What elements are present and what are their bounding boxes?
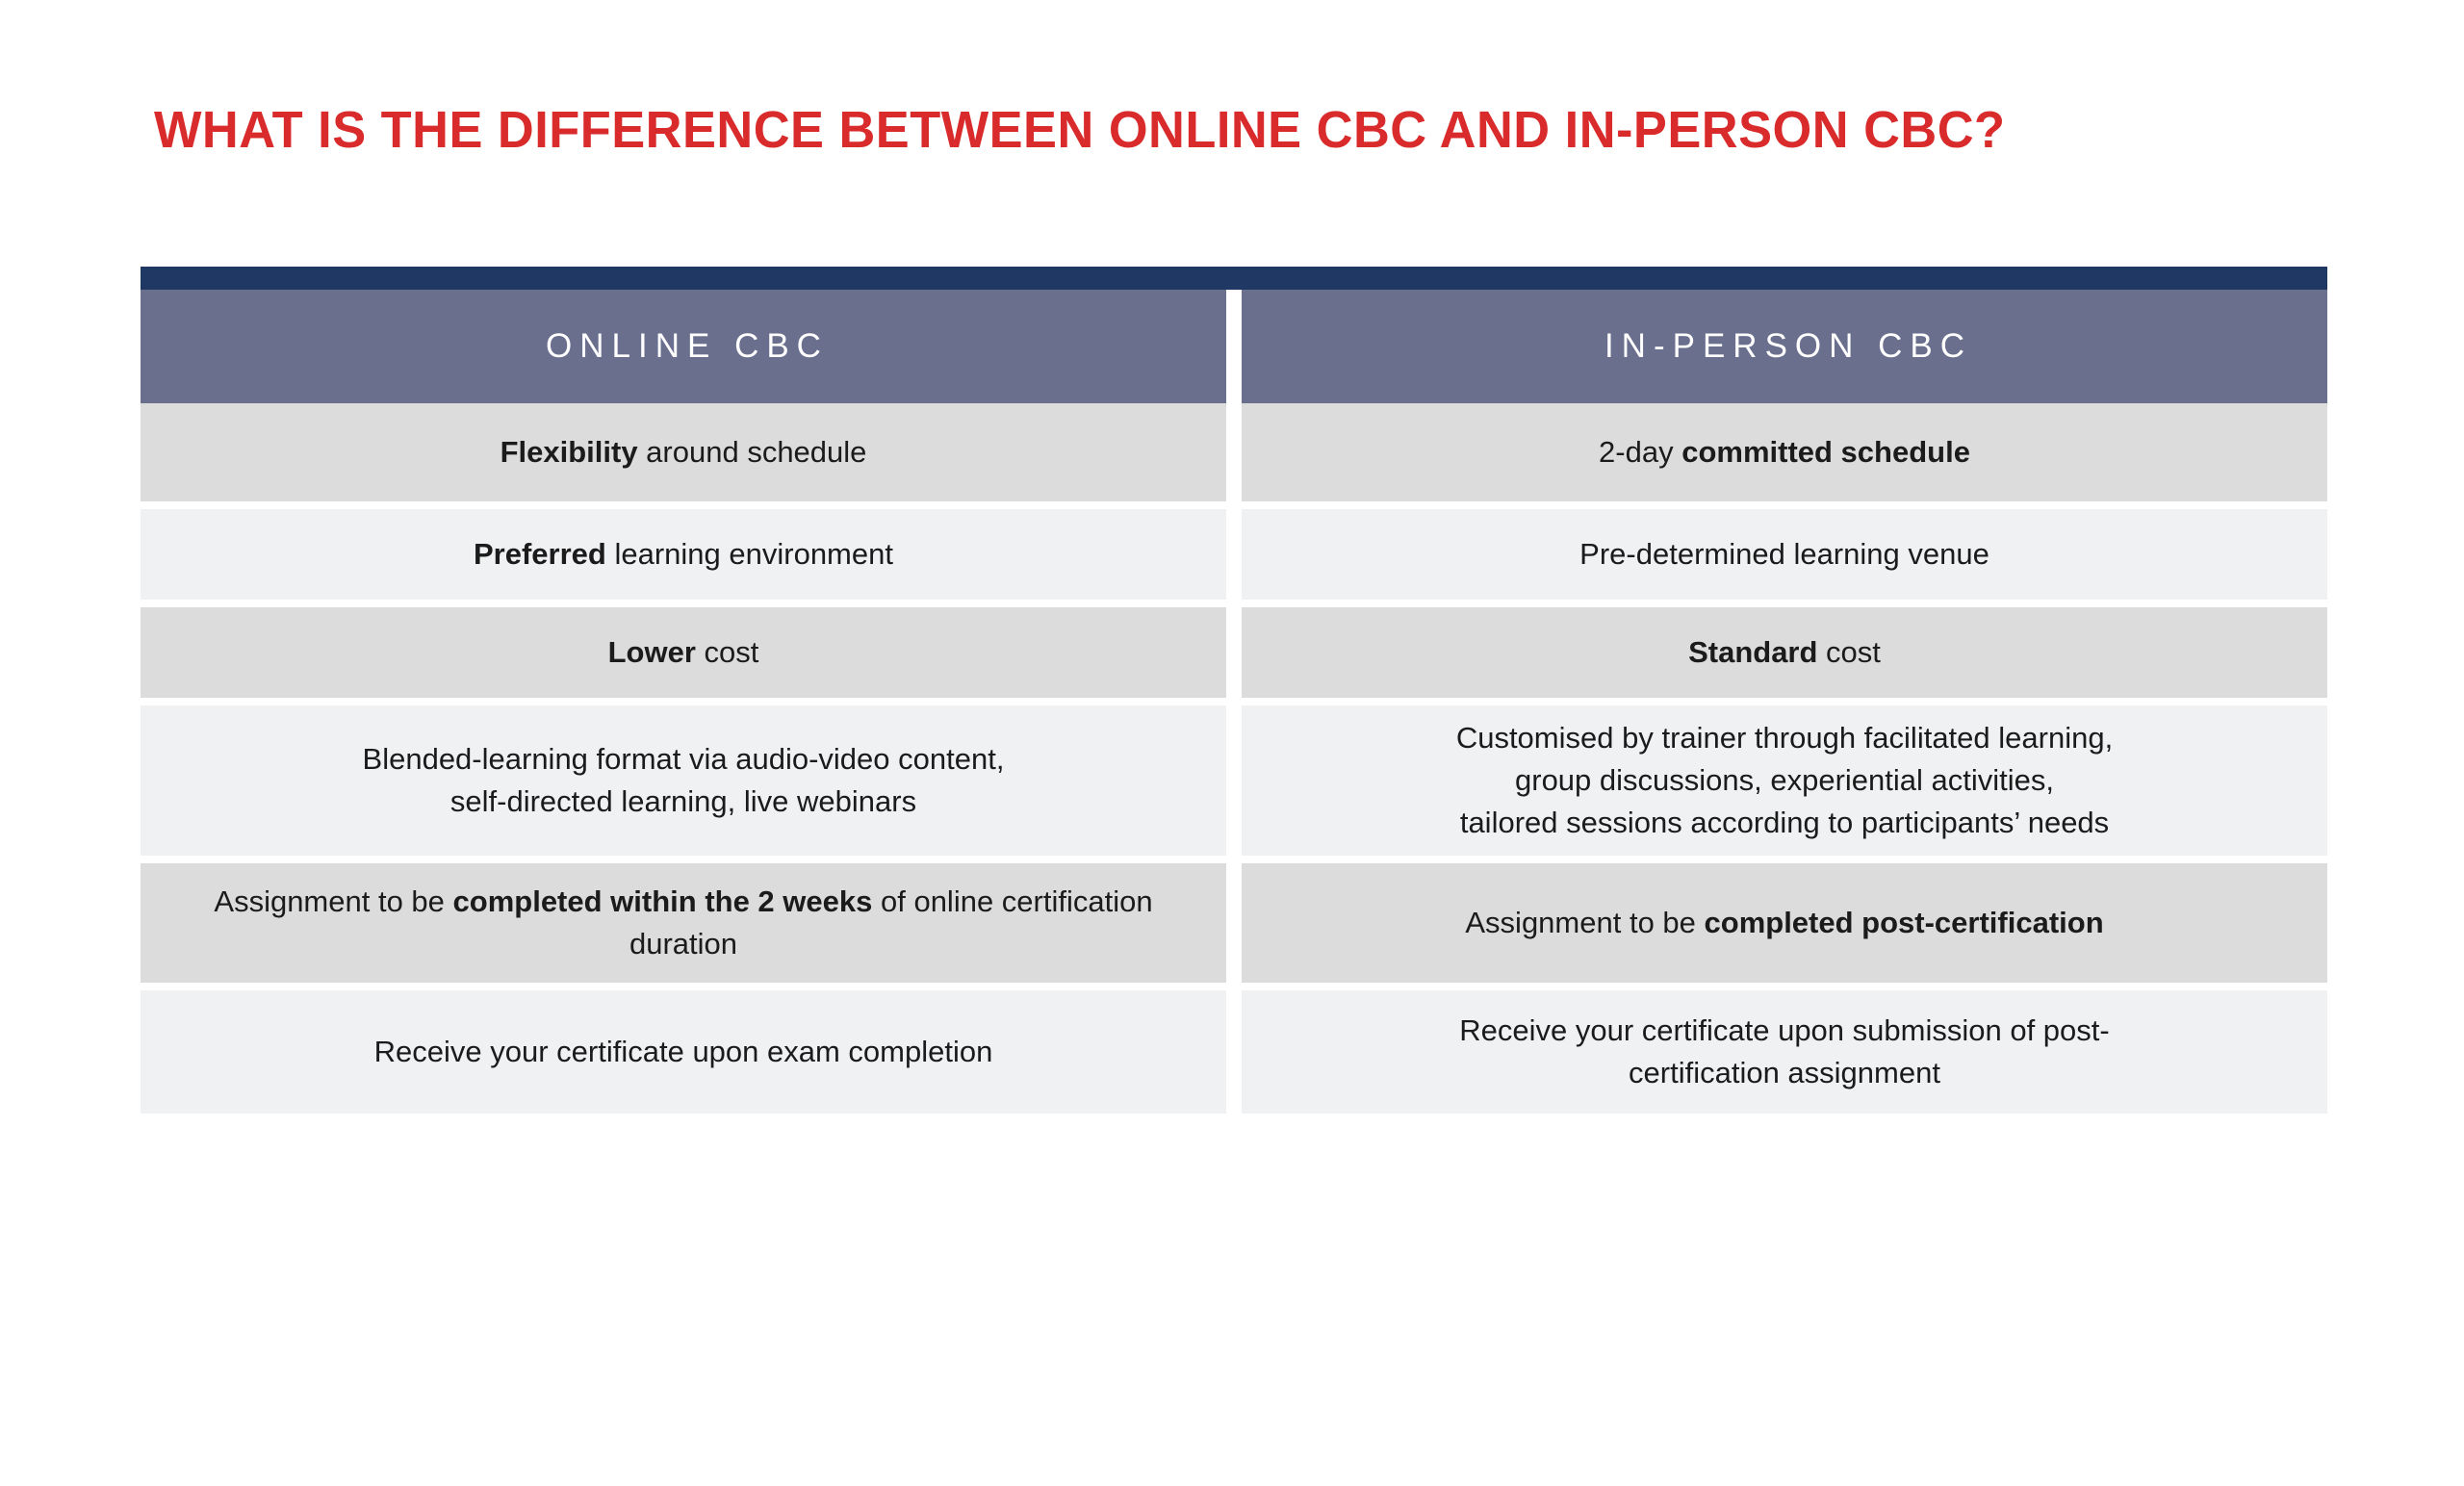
row-divider: [141, 600, 2327, 607]
table-row: Assignment to be completed within the 2 …: [141, 863, 2327, 983]
cell-emphasis: completed post-certification: [1705, 906, 2104, 939]
cell-inperson-format: Customised by trainer through facilitate…: [1242, 705, 2327, 856]
cell-line: group discussions, experiential activiti…: [1515, 763, 2054, 797]
column-header-online-cbc: ONLINE CBC: [141, 290, 1226, 403]
table-row: Blended-learning format via audio-video …: [141, 705, 2327, 856]
cell-online-cost: Lower cost: [141, 607, 1226, 698]
cell-inperson-environment: Pre-determined learning venue: [1242, 509, 2327, 600]
cell-online-certificate: Receive your certificate upon exam compl…: [141, 990, 1226, 1114]
cell-text: around schedule: [638, 435, 867, 469]
cell-text: Assignment to be: [1465, 906, 1704, 939]
table-row: Receive your certificate upon exam compl…: [141, 990, 2327, 1114]
cell-emphasis: committed schedule: [1681, 435, 1970, 469]
cell-text: 2-day: [1599, 435, 1681, 469]
cell-line: tailored sessions according to participa…: [1460, 806, 2109, 839]
column-divider: [1226, 607, 1242, 698]
table-top-accent-strip: [141, 267, 2327, 290]
cell-line: self-directed learning, live webinars: [450, 784, 916, 818]
column-divider: [1226, 509, 1242, 600]
comparison-infographic: WHAT IS THE DIFFERENCE BETWEEN ONLINE CB…: [0, 0, 2464, 1486]
cell-line: Blended-learning format via audio-video …: [363, 742, 1005, 776]
cell-online-assignment: Assignment to be completed within the 2 …: [141, 863, 1226, 983]
column-header-in-person-cbc: IN-PERSON CBC: [1242, 290, 2327, 403]
cell-text: cost: [1817, 635, 1880, 669]
cell-text: Assignment to be: [214, 884, 452, 918]
column-divider: [1226, 290, 1242, 403]
cell-inperson-certificate: Receive your certificate upon submission…: [1242, 990, 2327, 1114]
cell-emphasis: completed within the 2 weeks: [453, 884, 873, 918]
column-divider: [1226, 705, 1242, 856]
table-row: Preferred learning environment Pre-deter…: [141, 509, 2327, 600]
table-row: Flexibility around schedule 2-day commit…: [141, 403, 2327, 501]
cell-text: cost: [696, 635, 758, 669]
cell-online-environment: Preferred learning environment: [141, 509, 1226, 600]
cell-line: Receive your certificate upon submission…: [1459, 1013, 2109, 1047]
cell-inperson-assignment: Assignment to be completed post-certific…: [1242, 863, 2327, 983]
column-divider: [1226, 990, 1242, 1114]
row-divider: [141, 501, 2327, 509]
row-divider: [141, 856, 2327, 863]
cell-inperson-cost: Standard cost: [1242, 607, 2327, 698]
comparison-table: ONLINE CBC IN-PERSON CBC Flexibility aro…: [141, 267, 2327, 1114]
column-divider: [1226, 403, 1242, 501]
cell-text: Receive your certificate upon exam compl…: [374, 1035, 993, 1068]
cell-line: Customised by trainer through facilitate…: [1456, 721, 2113, 755]
cell-line: certification assignment: [1629, 1056, 1940, 1089]
cell-online-format: Blended-learning format via audio-video …: [141, 705, 1226, 856]
cell-inperson-schedule: 2-day committed schedule: [1242, 403, 2327, 501]
row-divider: [141, 983, 2327, 990]
column-divider: [1226, 863, 1242, 983]
table-header-row: ONLINE CBC IN-PERSON CBC: [141, 290, 2327, 403]
row-divider: [141, 698, 2327, 705]
cell-online-schedule: Flexibility around schedule: [141, 403, 1226, 501]
cell-emphasis: Preferred: [474, 537, 606, 571]
cell-text: learning environment: [606, 537, 893, 571]
page-title: WHAT IS THE DIFFERENCE BETWEEN ONLINE CB…: [154, 100, 2006, 160]
table-row: Lower cost Standard cost: [141, 607, 2327, 698]
cell-emphasis: Flexibility: [500, 435, 638, 469]
cell-emphasis: Lower: [608, 635, 696, 669]
cell-emphasis: Standard: [1688, 635, 1817, 669]
cell-text: Pre-determined learning venue: [1579, 537, 1989, 571]
